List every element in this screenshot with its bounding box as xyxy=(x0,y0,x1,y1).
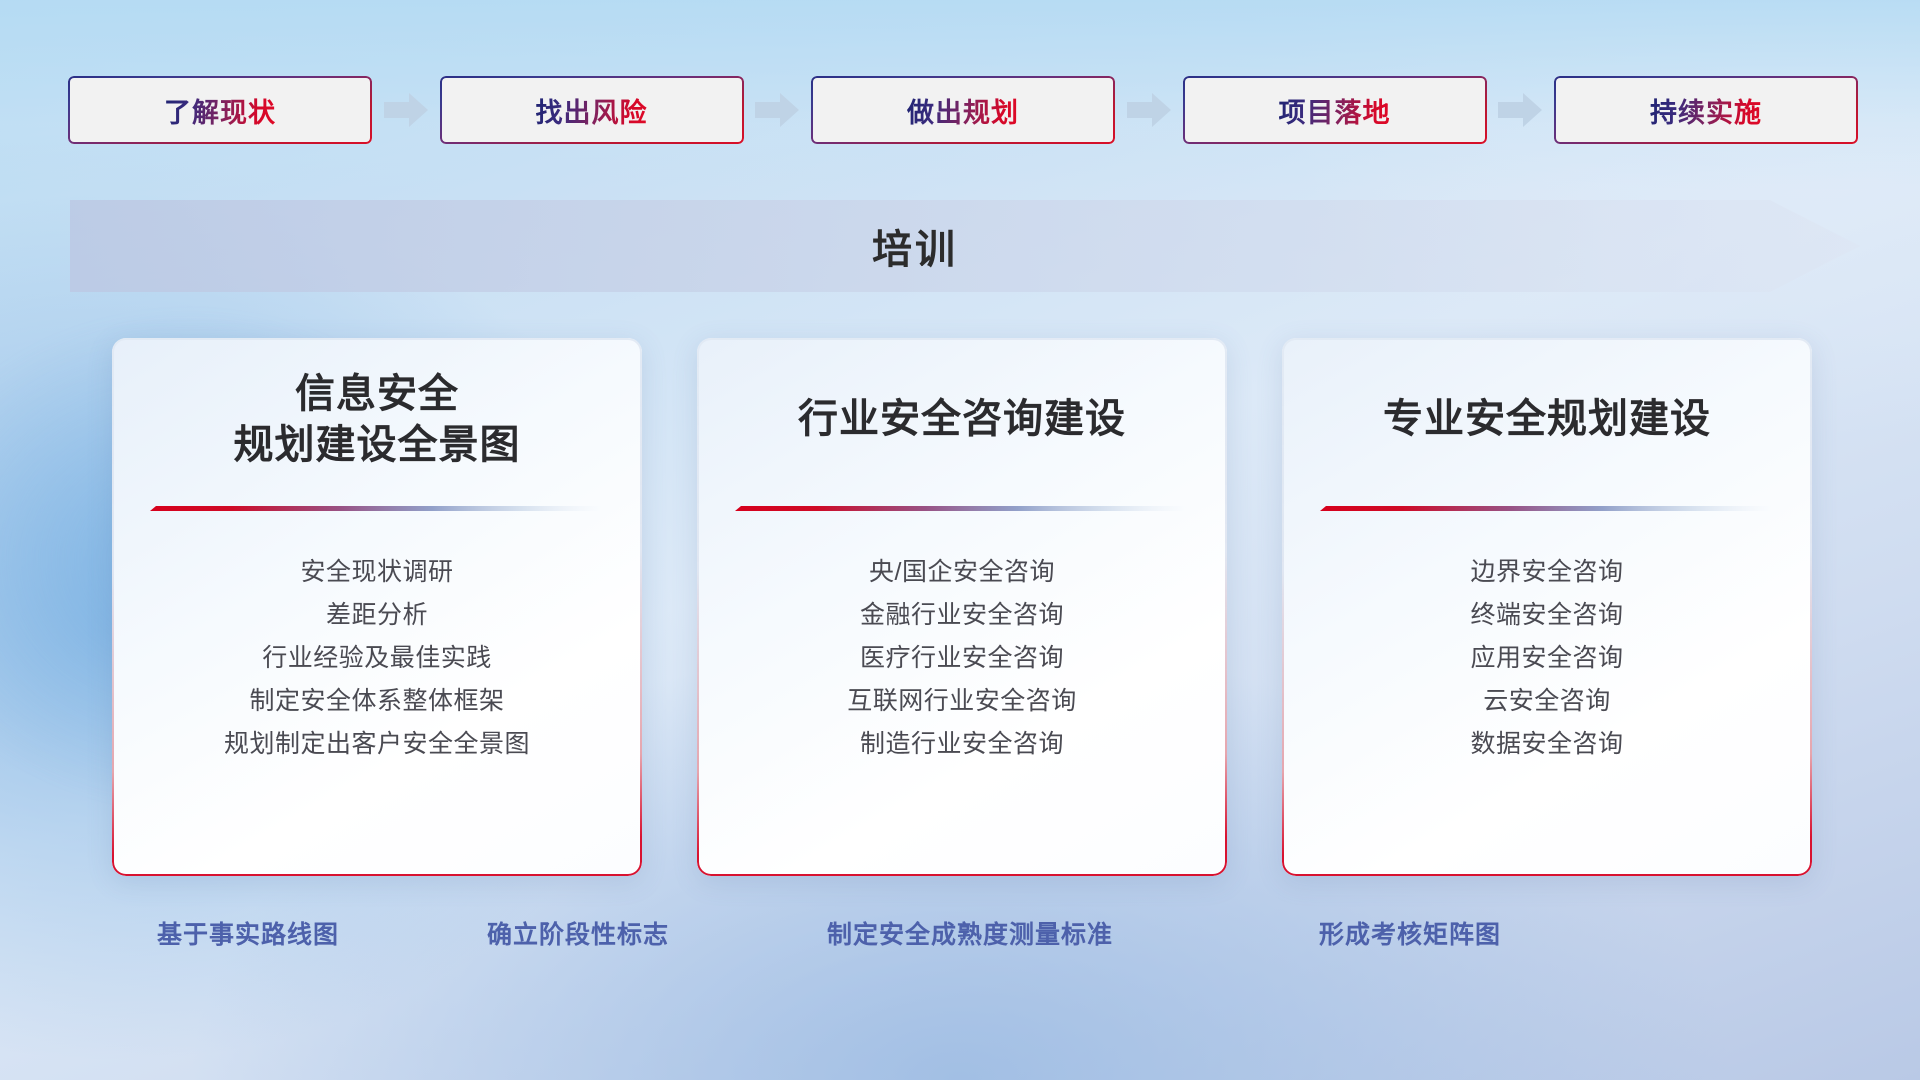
card-title-area: 行业安全咨询建设 xyxy=(723,338,1201,502)
step-label-5: 持续实施 xyxy=(1650,91,1762,130)
card-information-security-blueprint[interactable]: 信息安全 规划建设全景图 xyxy=(112,338,642,876)
step-box-1[interactable]: 了解现状 xyxy=(68,76,372,144)
list-item: 差距分析 xyxy=(138,594,616,637)
step-arrow-3 xyxy=(1115,93,1183,127)
card-title: 信息安全 规划建设全景图 xyxy=(234,369,521,471)
card-industry-security-consulting[interactable]: 行业安全咨询建设 xyxy=(697,338,1227,876)
step-box-3[interactable]: 做出规划 xyxy=(811,76,1115,144)
list-item: 应用安全咨询 xyxy=(1308,637,1786,680)
step-arrow-1 xyxy=(372,93,440,127)
card-item-list: 安全现状调研 差距分析 行业经验及最佳实践 制定安全体系整体框架 规划制定出客户… xyxy=(138,551,616,766)
card-title: 专业安全规划建设 xyxy=(1383,394,1711,445)
list-item: 边界安全咨询 xyxy=(1308,551,1786,594)
list-item: 互联网行业安全咨询 xyxy=(723,680,1201,723)
list-item: 规划制定出客户安全全景图 xyxy=(138,723,616,766)
list-item: 云安全咨询 xyxy=(1308,680,1786,723)
training-label: 培训 xyxy=(70,200,1860,292)
card-professional-security-planning[interactable]: 专业安全规划建设 xyxy=(1282,338,1812,876)
list-item: 安全现状调研 xyxy=(138,551,616,594)
bottom-label-2: 确立阶段性标志 xyxy=(487,915,669,951)
card-row: 信息安全 规划建设全景图 xyxy=(112,338,1812,878)
step-box-4[interactable]: 项目落地 xyxy=(1183,76,1487,144)
step-box-5[interactable]: 持续实施 xyxy=(1554,76,1858,144)
list-item: 金融行业安全咨询 xyxy=(723,594,1201,637)
card-title-area: 专业安全规划建设 xyxy=(1308,338,1786,502)
card-title: 行业安全咨询建设 xyxy=(798,394,1126,445)
training-band: 培训 xyxy=(70,200,1860,292)
process-step-row: 了解现状 找出风险 做出规划 项目落地 xyxy=(68,75,1858,145)
card-divider xyxy=(735,504,1189,513)
list-item: 央/国企安全咨询 xyxy=(723,551,1201,594)
step-label-1: 了解现状 xyxy=(164,91,276,130)
card-title-area: 信息安全 规划建设全景图 xyxy=(138,338,616,502)
list-item: 行业经验及最佳实践 xyxy=(138,637,616,680)
list-item: 制定安全体系整体框架 xyxy=(138,680,616,723)
step-label-3: 做出规划 xyxy=(907,91,1019,130)
card-item-list: 边界安全咨询 终端安全咨询 应用安全咨询 云安全咨询 数据安全咨询 xyxy=(1308,551,1786,766)
diagram-stage: 了解现状 找出风险 做出规划 项目落地 xyxy=(0,0,1920,1080)
card-divider xyxy=(150,504,604,513)
step-arrow-2 xyxy=(744,93,812,127)
bottom-label-1: 基于事实路线图 xyxy=(157,915,339,951)
card-item-list: 央/国企安全咨询 金融行业安全咨询 医疗行业安全咨询 互联网行业安全咨询 制造行… xyxy=(723,551,1201,766)
bottom-label-3: 制定安全成熟度测量标准 xyxy=(827,915,1113,951)
step-box-2[interactable]: 找出风险 xyxy=(440,76,744,144)
list-item: 数据安全咨询 xyxy=(1308,723,1786,766)
list-item: 制造行业安全咨询 xyxy=(723,723,1201,766)
list-item: 终端安全咨询 xyxy=(1308,594,1786,637)
step-label-4: 项目落地 xyxy=(1279,91,1391,130)
step-label-2: 找出风险 xyxy=(536,91,648,130)
step-arrow-4 xyxy=(1487,93,1555,127)
list-item: 医疗行业安全咨询 xyxy=(723,637,1201,680)
bottom-label-row: 基于事实路线图 确立阶段性标志 制定安全成熟度测量标准 形成考核矩阵图 xyxy=(0,915,1920,963)
card-divider xyxy=(1320,504,1774,513)
bottom-label-4: 形成考核矩阵图 xyxy=(1319,915,1501,951)
